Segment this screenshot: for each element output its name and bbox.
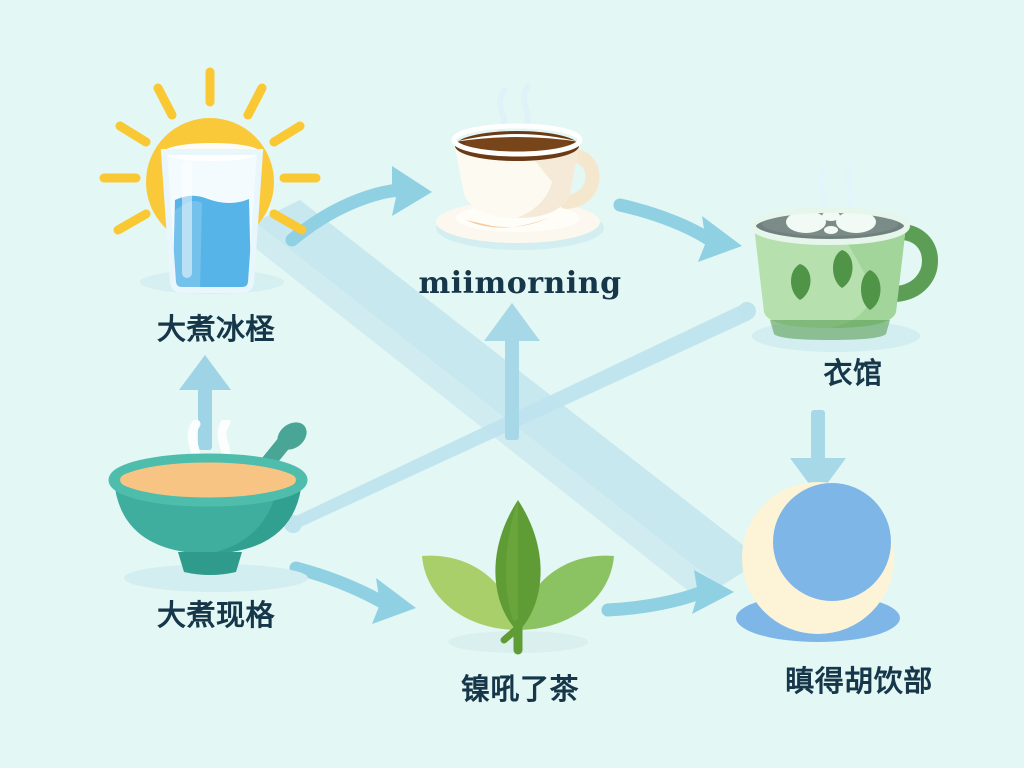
node-coffee[interactable]: miimorning bbox=[400, 70, 640, 320]
node-leaves-label: 镍吼了茶 bbox=[400, 666, 640, 708]
node-soup[interactable]: 大煮现格 bbox=[96, 420, 336, 640]
sun-water-glass-icon bbox=[96, 60, 336, 310]
soup-bowl-icon bbox=[96, 420, 336, 600]
node-water[interactable]: 大煮冰柽 bbox=[96, 60, 336, 350]
node-greenmug-label: 衣馆 bbox=[718, 350, 988, 392]
tea-leaves-icon bbox=[400, 490, 640, 660]
coffee-cup-icon bbox=[400, 70, 640, 280]
arrow-leaves-to-coffee bbox=[484, 303, 540, 440]
node-moon[interactable]: 瞋得胡饮部 bbox=[714, 480, 1004, 710]
node-water-label: 大煮冰柽 bbox=[96, 306, 336, 348]
node-soup-label: 大煮现格 bbox=[96, 592, 336, 634]
green-leaf-mug-icon bbox=[718, 160, 988, 360]
node-coffee-label: miimorning bbox=[400, 266, 640, 301]
node-greenmug[interactable]: 衣馆 bbox=[718, 160, 988, 395]
moon-sphere-icon bbox=[714, 480, 1004, 655]
node-moon-label: 瞋得胡饮部 bbox=[714, 658, 1004, 700]
diagram-canvas: .ar{fill:none;stroke:#8fd0e3;stroke-widt… bbox=[0, 0, 1024, 768]
node-leaves[interactable]: 镍吼了茶 bbox=[400, 490, 640, 720]
